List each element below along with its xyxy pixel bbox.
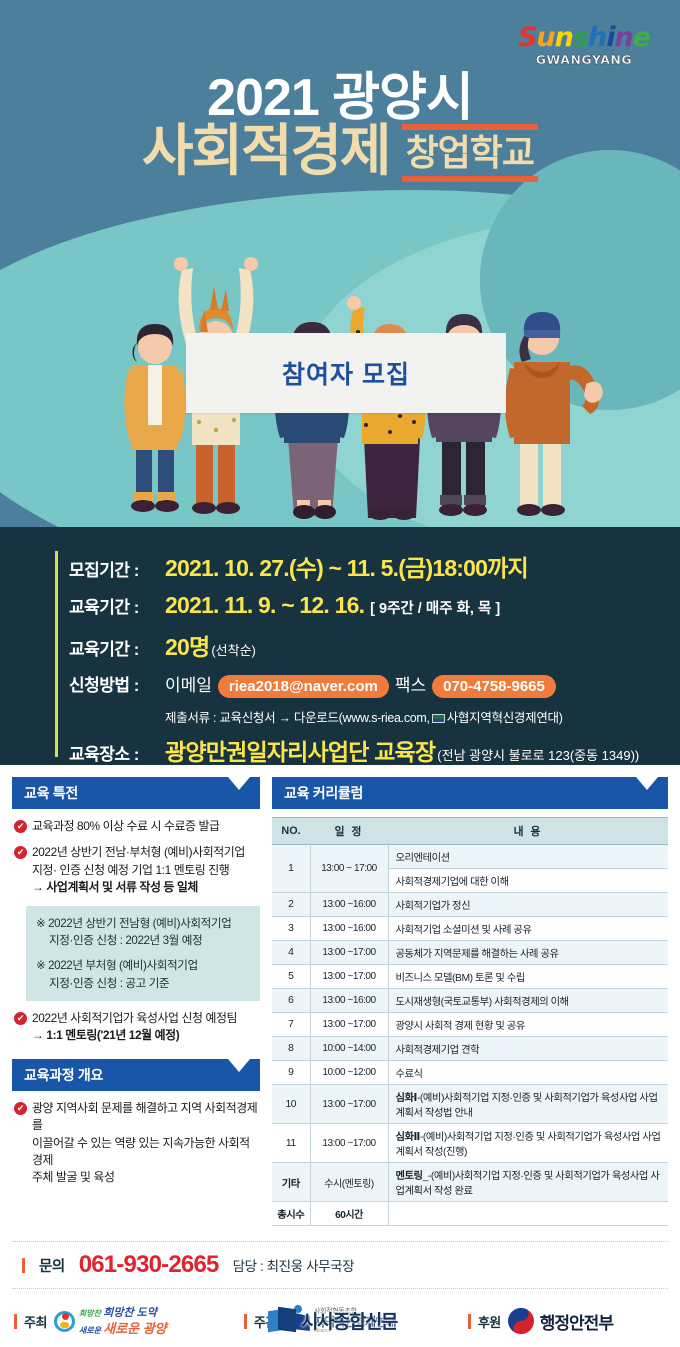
info-inner: 모집기간 : 2021. 10. 27.(수) ~ 11. 5.(금)18:00… bbox=[55, 549, 680, 767]
table-row: 9 10:00 ~12:00 수료식 bbox=[272, 1061, 668, 1085]
content-section: 교육 특전 ✔ 교육과정 80% 이상 수료 시 수료증 발급 ✔ 2022년 … bbox=[0, 765, 680, 1231]
col-header-schedule: 일 정 bbox=[310, 818, 388, 845]
contact-label: 문의 bbox=[39, 1255, 65, 1276]
footer-host-group: 주최 희망찬 희망찬 도약 새로운 새로운 광양 bbox=[14, 1304, 240, 1338]
table-row: 1 13:00 ~ 17:00 오리엔테이션 bbox=[272, 845, 668, 869]
cell-content: 광양시 사회적 경제 현황 및 공유 bbox=[388, 1013, 668, 1037]
table-row: 2 13:00 ~16:00 사회적기업가 정신 bbox=[272, 893, 668, 917]
mint-note-1-line1: ※ 2022년 상반기 전남형 (예비)사회적기업 bbox=[36, 917, 231, 930]
info-row-apply-method: 신청방법 : 이메일 riea2018@naver.com 팩스 070-475… bbox=[69, 671, 680, 698]
gwangyang-city-logo: 희망찬 희망찬 도약 새로운 새로운 광양 bbox=[54, 1304, 167, 1338]
benefit-item-2-arrow: → 사업계획서 및 서류 작성 등 일체 bbox=[32, 879, 260, 896]
gwangyang-city-mark-icon bbox=[54, 1311, 75, 1332]
cell-time: 60시간 bbox=[310, 1202, 388, 1226]
email-pill[interactable]: riea2018@naver.com bbox=[218, 675, 389, 698]
cell-time: 10:00 ~12:00 bbox=[310, 1061, 388, 1085]
col-header-content: 내 용 bbox=[388, 818, 668, 845]
info-note-education-period: [ 9주간 / 매주 화, 목 ] bbox=[370, 597, 500, 618]
check-icon: ✔ bbox=[14, 820, 27, 833]
contact-person: 담당 : 최진웅 사무국장 bbox=[233, 1255, 355, 1275]
contact-tick-icon bbox=[22, 1258, 25, 1273]
curriculum-table-body: 1 13:00 ~ 17:00 오리엔테이션 사회적경제기업에 대한 이해 2 … bbox=[272, 845, 668, 1226]
email-label: 이메일 bbox=[165, 671, 212, 696]
contact-phone[interactable]: 061-930-2665 bbox=[79, 1251, 219, 1279]
info-value-venue: 광양만권일자리사업단 교육장 bbox=[165, 733, 435, 767]
person-6 bbox=[505, 312, 603, 516]
info-label-recruit-period: 모집기간 : bbox=[69, 556, 165, 581]
fax-label: 팩스 bbox=[395, 671, 426, 696]
info-submission-note: 제출서류 : 교육신청서 → 다운로드(www.s-riea.com,사협지역혁… bbox=[165, 707, 680, 726]
table-row: 5 13:00 ~17:00 비즈니스 모델(BM) 토론 및 수립 bbox=[272, 965, 668, 989]
col-header-no: NO. bbox=[272, 818, 310, 845]
info-submission-text: 제출서류 : 교육신청서 → 다운로드(www.s-riea.com, bbox=[165, 711, 430, 725]
table-row: 총시수 60시간 bbox=[272, 1202, 668, 1226]
table-row: 11 13:00 ~17:00 심화Ⅱ-(예비)사회적기업 지정·인증 및 사회… bbox=[272, 1124, 668, 1163]
info-value-education-period: 2021. 11. 9. ~ 12. 16. bbox=[165, 592, 364, 619]
check-icon: ✔ bbox=[14, 846, 27, 859]
info-submission-tail: 사협지역혁신경제연대) bbox=[447, 711, 563, 725]
info-section: 모집기간 : 2021. 10. 27.(수) ~ 11. 5.(금)18:00… bbox=[0, 527, 680, 765]
overview-item: ✔ 광양 지역사회 문제를 해결하고 지역 사회적경제를 이끌어갈 수 있는 역… bbox=[14, 1100, 260, 1187]
mint-note-1-line2: 지정·인증 신청 : 2022년 3월 예정 bbox=[36, 932, 250, 949]
riea-book-right-icon bbox=[295, 1313, 310, 1331]
cell-content: 도시재생형(국토교통부) 사회적경제의 이해 bbox=[388, 989, 668, 1013]
info-value-capacity: 20명 bbox=[165, 628, 209, 662]
gwangyang-slogan-2: 새로운 광양 bbox=[103, 1321, 166, 1336]
hero-section: Sunshine GWANGYANG 2021 광양시 사회적경제 창업학교 bbox=[0, 0, 680, 527]
cell-no: 9 bbox=[272, 1061, 310, 1085]
cell-content: 사회적기업가 정신 bbox=[388, 893, 668, 917]
section-header-overview: 교육과정 개요 bbox=[12, 1059, 260, 1091]
section-header-benefits: 교육 특전 bbox=[12, 777, 260, 809]
mint-notes-box: ※ 2022년 상반기 전남형 (예비)사회적기업 지정·인증 신청 : 202… bbox=[26, 906, 260, 1002]
cell-no: 7 bbox=[272, 1013, 310, 1037]
cell-time: 13:00 ~17:00 bbox=[310, 1013, 388, 1037]
benefit-item-1: ✔ 교육과정 80% 이상 수료 시 수료증 발급 bbox=[14, 818, 260, 835]
mint-note-1: ※ 2022년 상반기 전남형 (예비)사회적기업 지정·인증 신청 : 202… bbox=[36, 915, 250, 950]
cell-time: 13:00 ~ 17:00 bbox=[310, 845, 388, 893]
cell-content: 수료식 bbox=[388, 1061, 668, 1085]
info-row-venue: 교육장소 : 광양만권일자리사업단 교육장 (전남 광양시 불로로 123(중동… bbox=[69, 733, 680, 767]
cell-time: 13:00 ~16:00 bbox=[310, 917, 388, 941]
organizer-tick-icon bbox=[244, 1314, 247, 1329]
cell-no: 10 bbox=[272, 1085, 310, 1124]
footer-sponsor-group: 후원 행정안전부 bbox=[468, 1308, 666, 1334]
fax-pill: 070-4758-9665 bbox=[432, 675, 556, 698]
info-label-apply-method: 신청방법 : bbox=[69, 671, 165, 696]
left-column: 교육 특전 ✔ 교육과정 80% 이상 수료 시 수료증 발급 ✔ 2022년 … bbox=[12, 777, 260, 1231]
riea-coop-label: 사회적협동조합 bbox=[314, 1308, 396, 1316]
cell-content: 공동체가 지역문제를 해결하는 사례 공유 bbox=[388, 941, 668, 965]
cell-no: 총시수 bbox=[272, 1202, 310, 1226]
mois-logo: 행정안전부 bbox=[508, 1308, 613, 1334]
cell-no: 3 bbox=[272, 917, 310, 941]
cell-time: 수시(멘토링) bbox=[310, 1163, 388, 1202]
cell-content bbox=[388, 1202, 668, 1226]
sunshine-wordmark: Sunshine bbox=[518, 24, 650, 51]
recruit-banner: 참여자 모집 bbox=[186, 333, 506, 413]
sunshine-gwangyang-logo: Sunshine GWANGYANG bbox=[518, 24, 650, 67]
table-row: 10 13:00 ~17:00 심화Ⅰ-(예비)사회적기업 지정·인증 및 사회… bbox=[272, 1085, 668, 1124]
check-icon: ✔ bbox=[14, 1012, 27, 1025]
cell-time: 13:00 ~16:00 bbox=[310, 989, 388, 1013]
cell-content: 심화Ⅱ-(예비)사회적기업 지정·인증 및 사회적기업가 육성사업 사업계획서 … bbox=[388, 1124, 668, 1163]
mois-name: 행정안전부 bbox=[540, 1309, 613, 1334]
poster-title-line2: 사회적경제 bbox=[142, 122, 390, 181]
gwangyang-slogan-1: 희망찬 도약 bbox=[103, 1307, 157, 1319]
benefit-item-2: ✔ 2022년 상반기 전남·부처형 (예비)사회적기업 지정· 인증 신청 예… bbox=[14, 844, 260, 896]
cell-time: 13:00 ~16:00 bbox=[310, 893, 388, 917]
mint-note-2-line2: 지정·인증 신청 : 공고 기준 bbox=[36, 975, 250, 992]
cell-content: 심화Ⅰ-(예비)사회적기업 지정·인증 및 사회적기업가 육성사업 사업계획서 … bbox=[388, 1085, 668, 1124]
cell-content: 사회적경제기업에 대한 이해 bbox=[388, 869, 668, 893]
cell-content: 오리엔테이션 bbox=[388, 845, 668, 869]
cell-content-rest: _-(예비)사회적기업 지정·인증 및 사회적기업가 육성사업 사업계획서 작성… bbox=[396, 1171, 660, 1197]
cell-no: 11 bbox=[272, 1124, 310, 1163]
cell-no: 4 bbox=[272, 941, 310, 965]
gwangyang-slogan-line1: 희망찬 희망찬 도약 bbox=[79, 1304, 167, 1321]
cell-time: 13:00 ~17:00 bbox=[310, 1085, 388, 1124]
poster-title-badge-text: 창업학교 bbox=[402, 130, 538, 176]
info-label-capacity: 교육기간 : bbox=[69, 635, 165, 660]
right-column: 교육 커리큘럼 NO. 일 정 내 용 1 13:00 ~ 17:00 오리엔테… bbox=[272, 777, 668, 1231]
cell-content-lead: 멘토링 bbox=[396, 1171, 423, 1182]
sponsor-tick-icon bbox=[468, 1314, 471, 1329]
host-tick-icon bbox=[14, 1314, 17, 1329]
table-row: 4 13:00 ~17:00 공동체가 지역문제를 해결하는 사례 공유 bbox=[272, 941, 668, 965]
cell-time: 13:00 ~17:00 bbox=[310, 941, 388, 965]
cell-no: 8 bbox=[272, 1037, 310, 1061]
table-row: 7 13:00 ~17:00 광양시 사회적 경제 현황 및 공유 bbox=[272, 1013, 668, 1037]
info-venue-address: (전남 광양시 불로로 123(중동 1349)) bbox=[437, 745, 639, 764]
benefit-item-2-text: 2022년 상반기 전남·부처형 (예비)사회적기업 지정· 인증 신청 예정 … bbox=[32, 844, 260, 896]
check-icon: ✔ bbox=[14, 1102, 27, 1115]
cell-no: 5 bbox=[272, 965, 310, 989]
info-label-education-period: 교육기간 : bbox=[69, 593, 165, 618]
mint-note-2-line1: ※ 2022년 부처형 (예비)사회적기업 bbox=[36, 959, 198, 972]
table-row: 6 13:00 ~16:00 도시재생형(국토교통부) 사회적경제의 이해 bbox=[272, 989, 668, 1013]
cell-no: 6 bbox=[272, 989, 310, 1013]
footer-sponsor-label: 후원 bbox=[478, 1312, 501, 1331]
footer-organizer-group: 주관 사회적협동조합 지역혁신경제연대 Alliance bbox=[244, 1308, 464, 1334]
benefit-item-3-text: 2022년 사회적기업가 육성사업 신청 예정팀 → 1:1 멘토링('21년 … bbox=[32, 1010, 260, 1045]
cell-content-rest: -(예비)사회적기업 지정·인증 및 사회적기업가 육성사업 사업계획서 작성(… bbox=[396, 1132, 661, 1158]
curriculum-header-row: NO. 일 정 내 용 bbox=[272, 818, 668, 845]
riea-alliance-label: Alliance bbox=[314, 1329, 396, 1335]
info-note-capacity: (선착순) bbox=[211, 640, 256, 659]
cell-content: 비즈니스 모델(BM) 토론 및 수립 bbox=[388, 965, 668, 989]
info-accent-bar bbox=[55, 551, 58, 757]
cell-time: 10:00 ~14:00 bbox=[310, 1037, 388, 1061]
riea-dot-icon bbox=[294, 1305, 302, 1313]
benefit-item-2-main: 2022년 상반기 전남·부처형 (예비)사회적기업 지정· 인증 신청 예정 … bbox=[32, 845, 245, 876]
info-row-education-period: 교육기간 : 2021. 11. 9. ~ 12. 16. [ 9주간 / 매주… bbox=[69, 592, 680, 619]
table-row: 3 13:00 ~16:00 사회적기업 소셜미션 및 사례 공유 bbox=[272, 917, 668, 941]
footer-organizer-label: 주관 bbox=[254, 1312, 277, 1331]
riea-mini-flag-icon bbox=[432, 714, 445, 723]
benefit-item-3: ✔ 2022년 사회적기업가 육성사업 신청 예정팀 → 1:1 멘토링('21… bbox=[14, 1010, 260, 1045]
cell-time: 13:00 ~17:00 bbox=[310, 1124, 388, 1163]
info-label-venue: 교육장소 : bbox=[69, 740, 165, 765]
riea-logo: 사회적협동조합 지역혁신경제연대 Alliance bbox=[284, 1308, 396, 1334]
poster-title-badge: 창업학교 bbox=[402, 122, 538, 182]
overview-text: 광양 지역사회 문제를 해결하고 지역 사회적경제를 이끌어갈 수 있는 역량 … bbox=[32, 1100, 260, 1187]
cell-content: 사회적경제기업 견학 bbox=[388, 1037, 668, 1061]
poster-root: Sunshine GWANGYANG 2021 광양시 사회적경제 창업학교 bbox=[0, 0, 680, 1231]
info-value-recruit-period: 2021. 10. 27.(수) ~ 11. 5.(금)18:00까지 bbox=[165, 549, 528, 583]
cell-content-lead: 심화Ⅱ bbox=[396, 1132, 420, 1143]
section-header-curriculum: 교육 커리큘럼 bbox=[272, 777, 668, 809]
cell-no: 1 bbox=[272, 845, 310, 893]
gwangyang-city-text: 희망찬 희망찬 도약 새로운 새로운 광양 bbox=[79, 1304, 167, 1338]
benefit-item-1-text: 교육과정 80% 이상 수료 시 수료증 발급 bbox=[32, 818, 260, 835]
cell-content-rest: -(예비)사회적기업 지정·인증 및 사회적기업가 육성사업 사업계획서 작성법… bbox=[396, 1093, 658, 1119]
riea-text: 사회적협동조합 지역혁신경제연대 Alliance bbox=[314, 1308, 396, 1334]
riea-name: 지역혁신경제연대 bbox=[314, 1316, 396, 1329]
table-row: 기타 수시(멘토링) 멘토링_-(예비)사회적기업 지정·인증 및 사회적기업가… bbox=[272, 1163, 668, 1202]
mint-note-2: ※ 2022년 부처형 (예비)사회적기업 지정·인증 신청 : 공고 기준 bbox=[36, 957, 250, 992]
cell-no: 기타 bbox=[272, 1163, 310, 1202]
riea-book-icon bbox=[284, 1308, 310, 1334]
cell-content-lead: 심화Ⅰ bbox=[396, 1093, 417, 1104]
footer-host-label: 주최 bbox=[24, 1312, 47, 1331]
taegeuk-icon bbox=[508, 1308, 534, 1334]
gwangyang-slogan-line2: 새로운 새로운 광양 bbox=[79, 1321, 167, 1338]
cell-time: 13:00 ~17:00 bbox=[310, 965, 388, 989]
recruit-banner-text: 참여자 모집 bbox=[282, 355, 410, 391]
contact-strip: 문의 061-930-2665 담당 : 최진웅 사무국장 bbox=[12, 1241, 668, 1289]
badge-bar-bottom bbox=[402, 176, 538, 182]
table-row: 8 10:00 ~14:00 사회적경제기업 견학 bbox=[272, 1037, 668, 1061]
info-row-recruit-period: 모집기간 : 2021. 10. 27.(수) ~ 11. 5.(금)18:00… bbox=[69, 549, 680, 583]
curriculum-table-head: NO. 일 정 내 용 bbox=[272, 818, 668, 845]
cell-content: 사회적기업 소셜미션 및 사례 공유 bbox=[388, 917, 668, 941]
info-row-capacity: 교육기간 : 20명 (선착순) bbox=[69, 628, 680, 662]
benefit-item-3-arrow: → 1:1 멘토링('21년 12월 예정) bbox=[32, 1027, 260, 1044]
person-1 bbox=[124, 324, 185, 512]
gwangyang-subtitle: GWANGYANG bbox=[518, 52, 650, 67]
curriculum-table: NO. 일 정 내 용 1 13:00 ~ 17:00 오리엔테이션 사회적경제… bbox=[272, 817, 668, 1226]
footer-section: 주최 희망찬 희망찬 도약 새로운 새로운 광양 주관 사회적협동조합 bbox=[0, 1295, 680, 1347]
cell-no: 2 bbox=[272, 893, 310, 917]
cell-content: 멘토링_-(예비)사회적기업 지정·인증 및 사회적기업가 육성사업 사업계획서… bbox=[388, 1163, 668, 1202]
poster-title-line2-wrap: 사회적경제 창업학교 bbox=[0, 122, 680, 182]
benefit-item-3-main: 2022년 사회적기업가 육성사업 신청 예정팀 bbox=[32, 1011, 237, 1025]
